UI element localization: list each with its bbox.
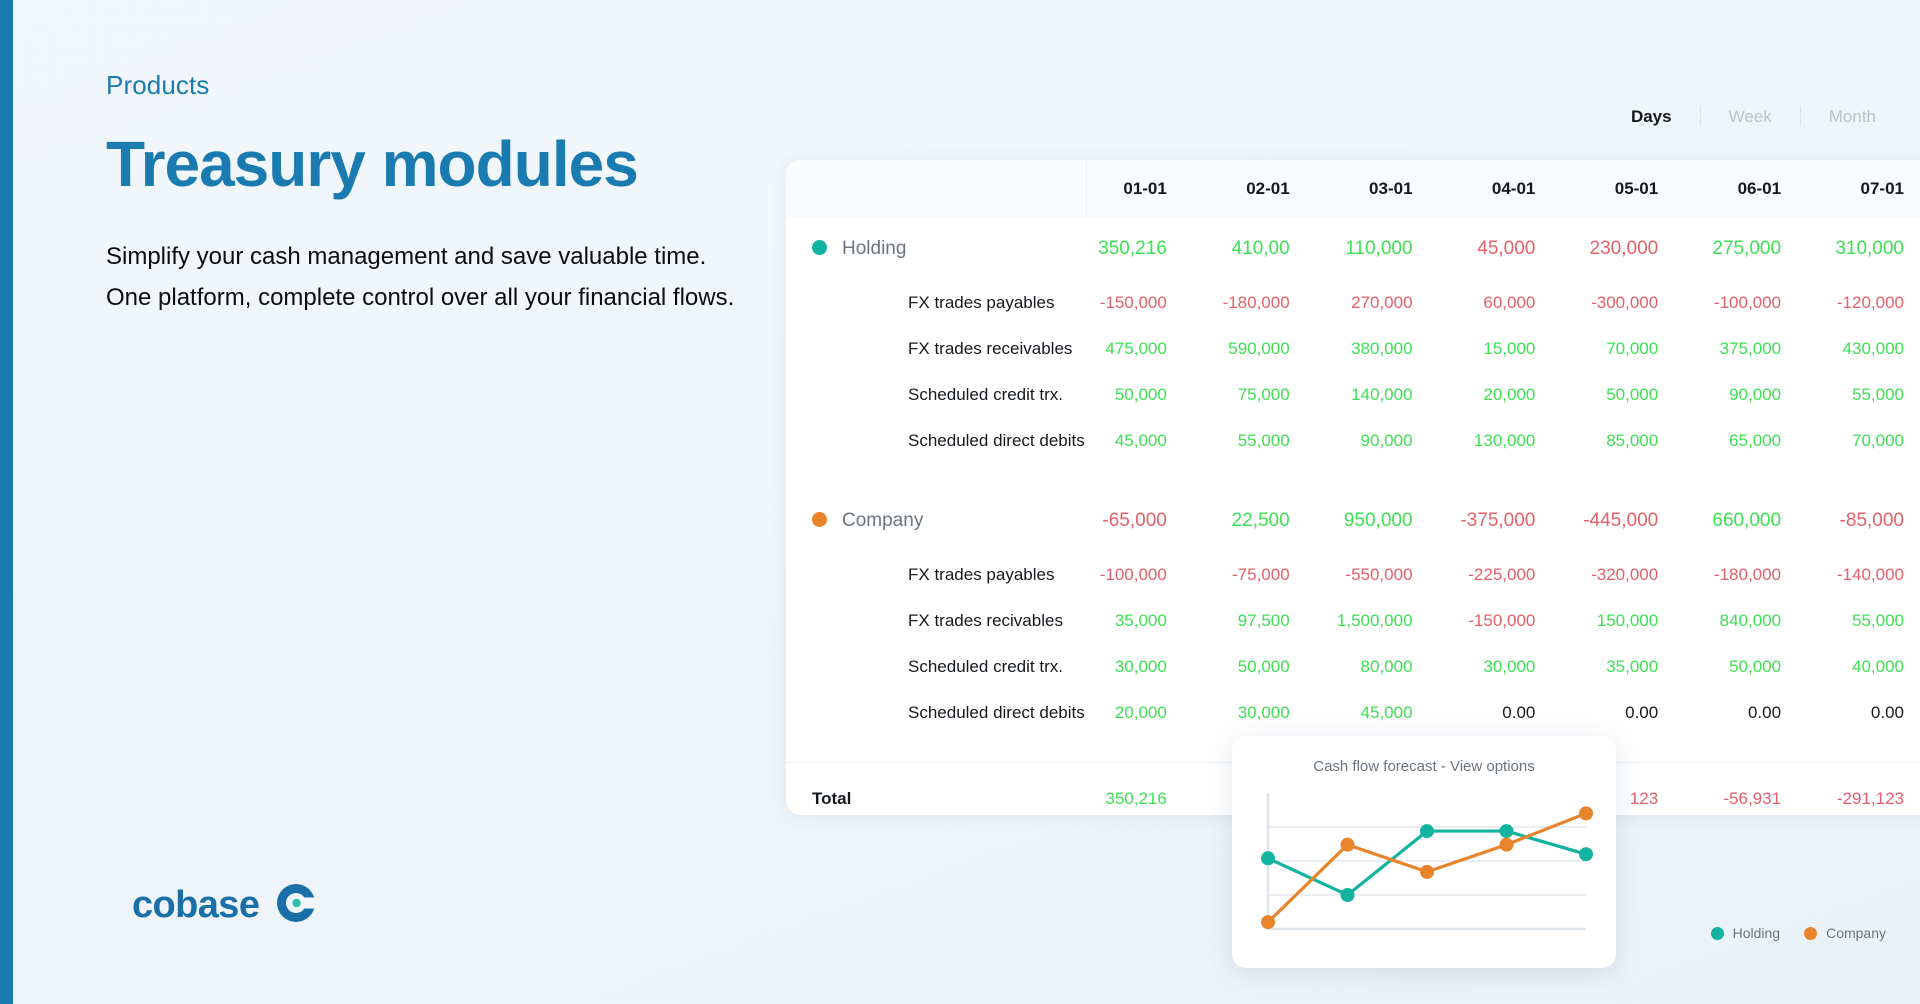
logo-wordmark: cobase (132, 884, 259, 927)
row-value-cell: -150,000 (1086, 280, 1209, 326)
row-value-cell: 1,500,000 (1332, 598, 1455, 644)
row-label: FX trades payables (786, 552, 1086, 598)
group-label-cell: Holding (786, 218, 1086, 280)
row-value-cell: 0.00 (1823, 690, 1920, 736)
row-value-cell: -300,000 (1577, 280, 1700, 326)
group-value-cell: -375,000 (1455, 490, 1578, 552)
row-label: FX trades payables (786, 280, 1086, 326)
table-row[interactable]: Scheduled credit trx.30,00050,00080,0003… (786, 644, 1920, 690)
header-label-spacer (786, 160, 1086, 218)
row-value-cell: 97,500 (1209, 598, 1332, 644)
group-value-cell: 350,216 (1086, 218, 1209, 280)
total-value-cell: 350,216 (1086, 762, 1209, 815)
chart-point[interactable] (1341, 888, 1355, 902)
table-row[interactable]: Scheduled credit trx.50,00075,000140,000… (786, 372, 1920, 418)
group-value-cell: 45,000 (1455, 218, 1578, 280)
row-value-cell: 130,000 (1455, 418, 1578, 464)
table-body: Holding350,216410,00110,00045,000230,000… (786, 218, 1920, 815)
row-value-cell: 30,000 (1209, 690, 1332, 736)
group-value-cell: -85,000 (1823, 490, 1920, 552)
group-label-cell: Company (786, 490, 1086, 552)
legend-label: Company (1826, 925, 1886, 941)
chart-point[interactable] (1341, 838, 1355, 852)
group-value-cell: 22,500 (1209, 490, 1332, 552)
legend-dot-icon (1804, 927, 1817, 940)
chart-point[interactable] (1579, 806, 1593, 820)
column-header-date: 07-01 (1823, 160, 1920, 218)
group-value-cell: 950,000 (1332, 490, 1455, 552)
eyebrow-label: Products (106, 70, 766, 101)
group-value-cell: 230,000 (1577, 218, 1700, 280)
row-value-cell: 50,000 (1209, 644, 1332, 690)
row-value-cell: 430,000 (1823, 326, 1920, 372)
row-value-cell: 20,000 (1455, 372, 1578, 418)
legend-item-company: Company (1804, 925, 1886, 941)
row-value-cell: 35,000 (1086, 598, 1209, 644)
column-header-date: 02-01 (1209, 160, 1332, 218)
row-value-cell: -320,000 (1577, 552, 1700, 598)
row-value-cell: 140,000 (1332, 372, 1455, 418)
row-value-cell: 375,000 (1700, 326, 1823, 372)
period-toggle[interactable]: Days Week Month (1603, 106, 1904, 126)
row-value-cell: -180,000 (1209, 280, 1332, 326)
row-label: FX trades recivables (786, 598, 1086, 644)
group-value-cell: -65,000 (1086, 490, 1209, 552)
table-row[interactable]: FX trades receivables475,000590,000380,0… (786, 326, 1920, 372)
cobase-c-mark-icon (275, 882, 317, 929)
cash-flow-line-chart (1254, 787, 1594, 939)
chart-point[interactable] (1500, 824, 1514, 838)
column-header-date: 05-01 (1577, 160, 1700, 218)
row-value-cell: 30,000 (1455, 644, 1578, 690)
period-option-days[interactable]: Days (1603, 108, 1700, 125)
legend-dot-icon (1711, 927, 1724, 940)
page-title: Treasury modules (106, 131, 766, 198)
chart-point[interactable] (1579, 847, 1593, 861)
row-value-cell: 80,000 (1332, 644, 1455, 690)
row-value-cell: 90,000 (1332, 418, 1455, 464)
row-value-cell: 0.00 (1700, 690, 1823, 736)
table-row[interactable]: FX trades payables-100,000-75,000-550,00… (786, 552, 1920, 598)
group-name: Company (842, 510, 923, 531)
row-value-cell: 35,000 (1577, 644, 1700, 690)
row-value-cell: 65,000 (1700, 418, 1823, 464)
group-name: Holding (842, 238, 906, 259)
chart-point[interactable] (1261, 915, 1275, 929)
group-color-dot-icon (812, 240, 827, 255)
row-value-cell: 90,000 (1700, 372, 1823, 418)
group-value-cell: 310,000 (1823, 218, 1920, 280)
row-value-cell: -150,000 (1455, 598, 1578, 644)
total-label: Total (786, 762, 1086, 815)
row-value-cell: 55,000 (1823, 372, 1920, 418)
group-color-dot-icon (812, 512, 827, 527)
cobase-logo: cobase (132, 882, 317, 929)
row-value-cell: 475,000 (1086, 326, 1209, 372)
row-value-cell: -140,000 (1823, 552, 1920, 598)
row-value-cell: 55,000 (1823, 598, 1920, 644)
chart-legend: Holding Company (1711, 925, 1886, 941)
row-value-cell: 70,000 (1577, 326, 1700, 372)
table-row[interactable]: FX trades recivables35,00097,5001,500,00… (786, 598, 1920, 644)
cash-flow-table: 01-01 02-01 03-01 04-01 05-01 06-01 07-0… (786, 160, 1920, 815)
period-option-week[interactable]: Week (1701, 108, 1800, 125)
table-row[interactable]: Scheduled direct debits20,00030,00045,00… (786, 690, 1920, 736)
row-value-cell: 50,000 (1700, 644, 1823, 690)
row-value-cell: 0.00 (1455, 690, 1578, 736)
row-value-cell: -180,000 (1700, 552, 1823, 598)
row-value-cell: 840,000 (1700, 598, 1823, 644)
row-value-cell: 50,000 (1577, 372, 1700, 418)
row-value-cell: -100,000 (1700, 280, 1823, 326)
column-header-date: 06-01 (1700, 160, 1823, 218)
column-header-date: 01-01 (1086, 160, 1209, 218)
group-value-cell: 410,00 (1209, 218, 1332, 280)
row-value-cell: -75,000 (1209, 552, 1332, 598)
legend-item-holding: Holding (1711, 925, 1780, 941)
table-row[interactable]: Scheduled direct debits45,00055,00090,00… (786, 418, 1920, 464)
hero-text-block: Products Treasury modules Simplify your … (106, 70, 766, 319)
row-value-cell: -120,000 (1823, 280, 1920, 326)
row-value-cell: 70,000 (1823, 418, 1920, 464)
row-value-cell: 150,000 (1577, 598, 1700, 644)
table-group-row[interactable]: Holding350,216410,00110,00045,000230,000… (786, 218, 1920, 280)
total-value-cell: -291,123 (1823, 762, 1920, 815)
chart-point[interactable] (1420, 824, 1434, 838)
group-spacer (786, 464, 1920, 490)
cash-flow-forecast-card[interactable]: Cash flow forecast - View options (1232, 736, 1616, 968)
table-row[interactable]: FX trades payables-150,000-180,000270,00… (786, 280, 1920, 326)
row-label: Scheduled credit trx. (786, 372, 1086, 418)
row-value-cell: 45,000 (1332, 690, 1455, 736)
row-value-cell: 40,000 (1823, 644, 1920, 690)
row-value-cell: -225,000 (1455, 552, 1578, 598)
table-header-row: 01-01 02-01 03-01 04-01 05-01 06-01 07-0… (786, 160, 1920, 218)
row-label: Scheduled direct debits (786, 690, 1086, 736)
row-value-cell: 55,000 (1209, 418, 1332, 464)
row-value-cell: -100,000 (1086, 552, 1209, 598)
chart-point[interactable] (1420, 865, 1434, 879)
table-group-row[interactable]: Company-65,00022,500950,000-375,000-445,… (786, 490, 1920, 552)
legend-label: Holding (1733, 925, 1780, 941)
cash-flow-table-card: 01-01 02-01 03-01 04-01 05-01 06-01 07-0… (786, 160, 1920, 815)
row-value-cell: 30,000 (1086, 644, 1209, 690)
table-header: 01-01 02-01 03-01 04-01 05-01 06-01 07-0… (786, 160, 1920, 218)
row-value-cell: 0.00 (1577, 690, 1700, 736)
row-value-cell: 85,000 (1577, 418, 1700, 464)
row-value-cell: 50,000 (1086, 372, 1209, 418)
group-value-cell: 110,000 (1332, 218, 1455, 280)
row-value-cell: -550,000 (1332, 552, 1455, 598)
row-label: Scheduled direct debits (786, 418, 1086, 464)
hero-description: Simplify your cash management and save v… (106, 236, 756, 319)
period-option-month[interactable]: Month (1801, 108, 1904, 125)
row-value-cell: 75,000 (1209, 372, 1332, 418)
chart-title: Cash flow forecast - View options (1254, 758, 1594, 775)
row-label: Scheduled credit trx. (786, 644, 1086, 690)
total-value-cell: -56,931 (1700, 762, 1823, 815)
chart-series-line-holding (1268, 831, 1586, 895)
row-value-cell: 590,000 (1209, 326, 1332, 372)
row-value-cell: 15,000 (1455, 326, 1578, 372)
row-value-cell: 380,000 (1332, 326, 1455, 372)
column-header-date: 04-01 (1455, 160, 1578, 218)
chart-point[interactable] (1261, 851, 1275, 865)
column-header-date: 03-01 (1332, 160, 1455, 218)
row-value-cell: 270,000 (1332, 280, 1455, 326)
group-value-cell: 275,000 (1700, 218, 1823, 280)
group-value-cell: -445,000 (1577, 490, 1700, 552)
group-value-cell: 660,000 (1700, 490, 1823, 552)
row-value-cell: 60,000 (1455, 280, 1578, 326)
row-label: FX trades receivables (786, 326, 1086, 372)
left-accent-rail (0, 0, 13, 1004)
row-value-cell: 20,000 (1086, 690, 1209, 736)
chart-point[interactable] (1500, 838, 1514, 852)
row-value-cell: 45,000 (1086, 418, 1209, 464)
